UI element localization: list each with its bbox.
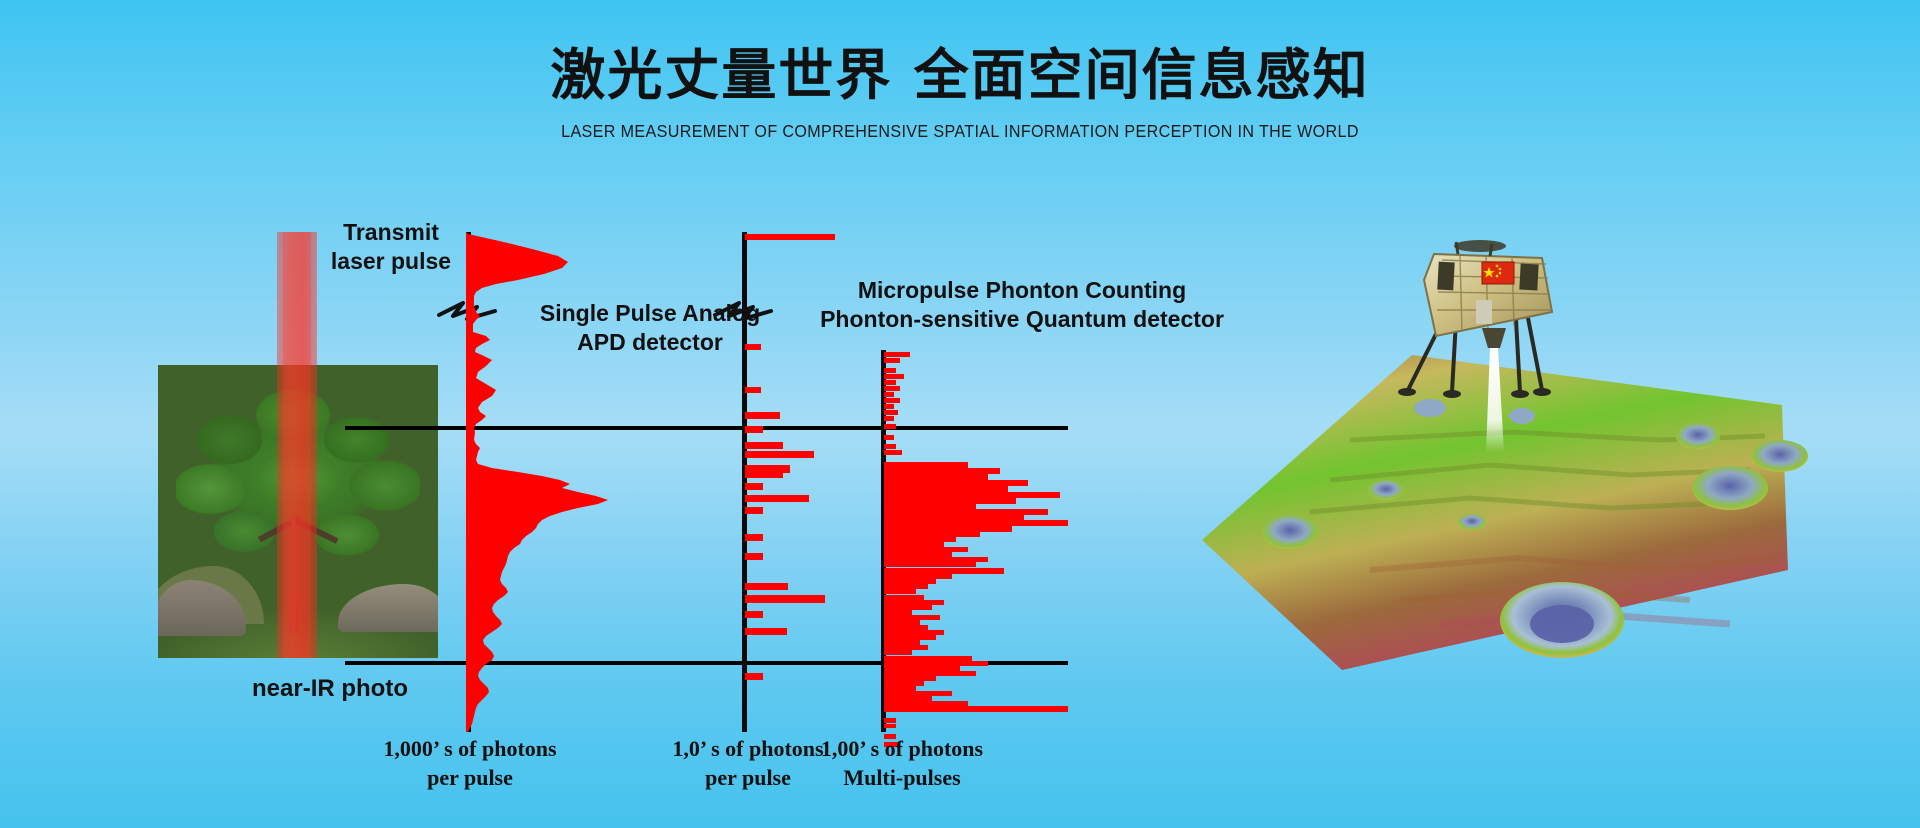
page-subtitle: LASER MEASUREMENT OF COMPREHENSIVE SPATI… bbox=[77, 121, 1843, 142]
crater-left-1 bbox=[1262, 515, 1318, 549]
panel3-histogram bbox=[884, 350, 1084, 732]
crater-right-1 bbox=[1692, 466, 1768, 510]
lidar-terrain-scene bbox=[1190, 240, 1810, 740]
near-ir-photo-label: near-IR photo bbox=[200, 674, 460, 704]
crater-right-2 bbox=[1752, 440, 1808, 472]
china-flag bbox=[1482, 262, 1514, 284]
banner-root: 激光丈量世界 全面空间信息感知 LASER MEASUREMENT OF COM… bbox=[0, 0, 1920, 828]
stone-wall-right bbox=[338, 584, 438, 632]
page-title: 激光丈量世界 全面空间信息感知 bbox=[0, 44, 1920, 107]
panel3-bars bbox=[884, 352, 1068, 728]
crater-right-3 bbox=[1676, 423, 1720, 449]
panel1-caption: 1,000’ s of photons per pulse bbox=[332, 735, 608, 792]
panel3-caption: 1,00’ s of photons Multi-pulses bbox=[752, 735, 1052, 792]
transmit-laser-pulse-label: Transmit laser pulse bbox=[286, 218, 496, 276]
crater-top-2 bbox=[1509, 408, 1535, 424]
crater-top-1 bbox=[1414, 399, 1446, 417]
crater-mid-2 bbox=[1458, 514, 1486, 530]
laser-beam-core bbox=[283, 232, 311, 658]
header: 激光丈量世界 全面空间信息感知 LASER MEASUREMENT OF COM… bbox=[0, 44, 1920, 142]
terrain-surface bbox=[1202, 355, 1808, 670]
crater-mid-1 bbox=[1368, 480, 1404, 500]
